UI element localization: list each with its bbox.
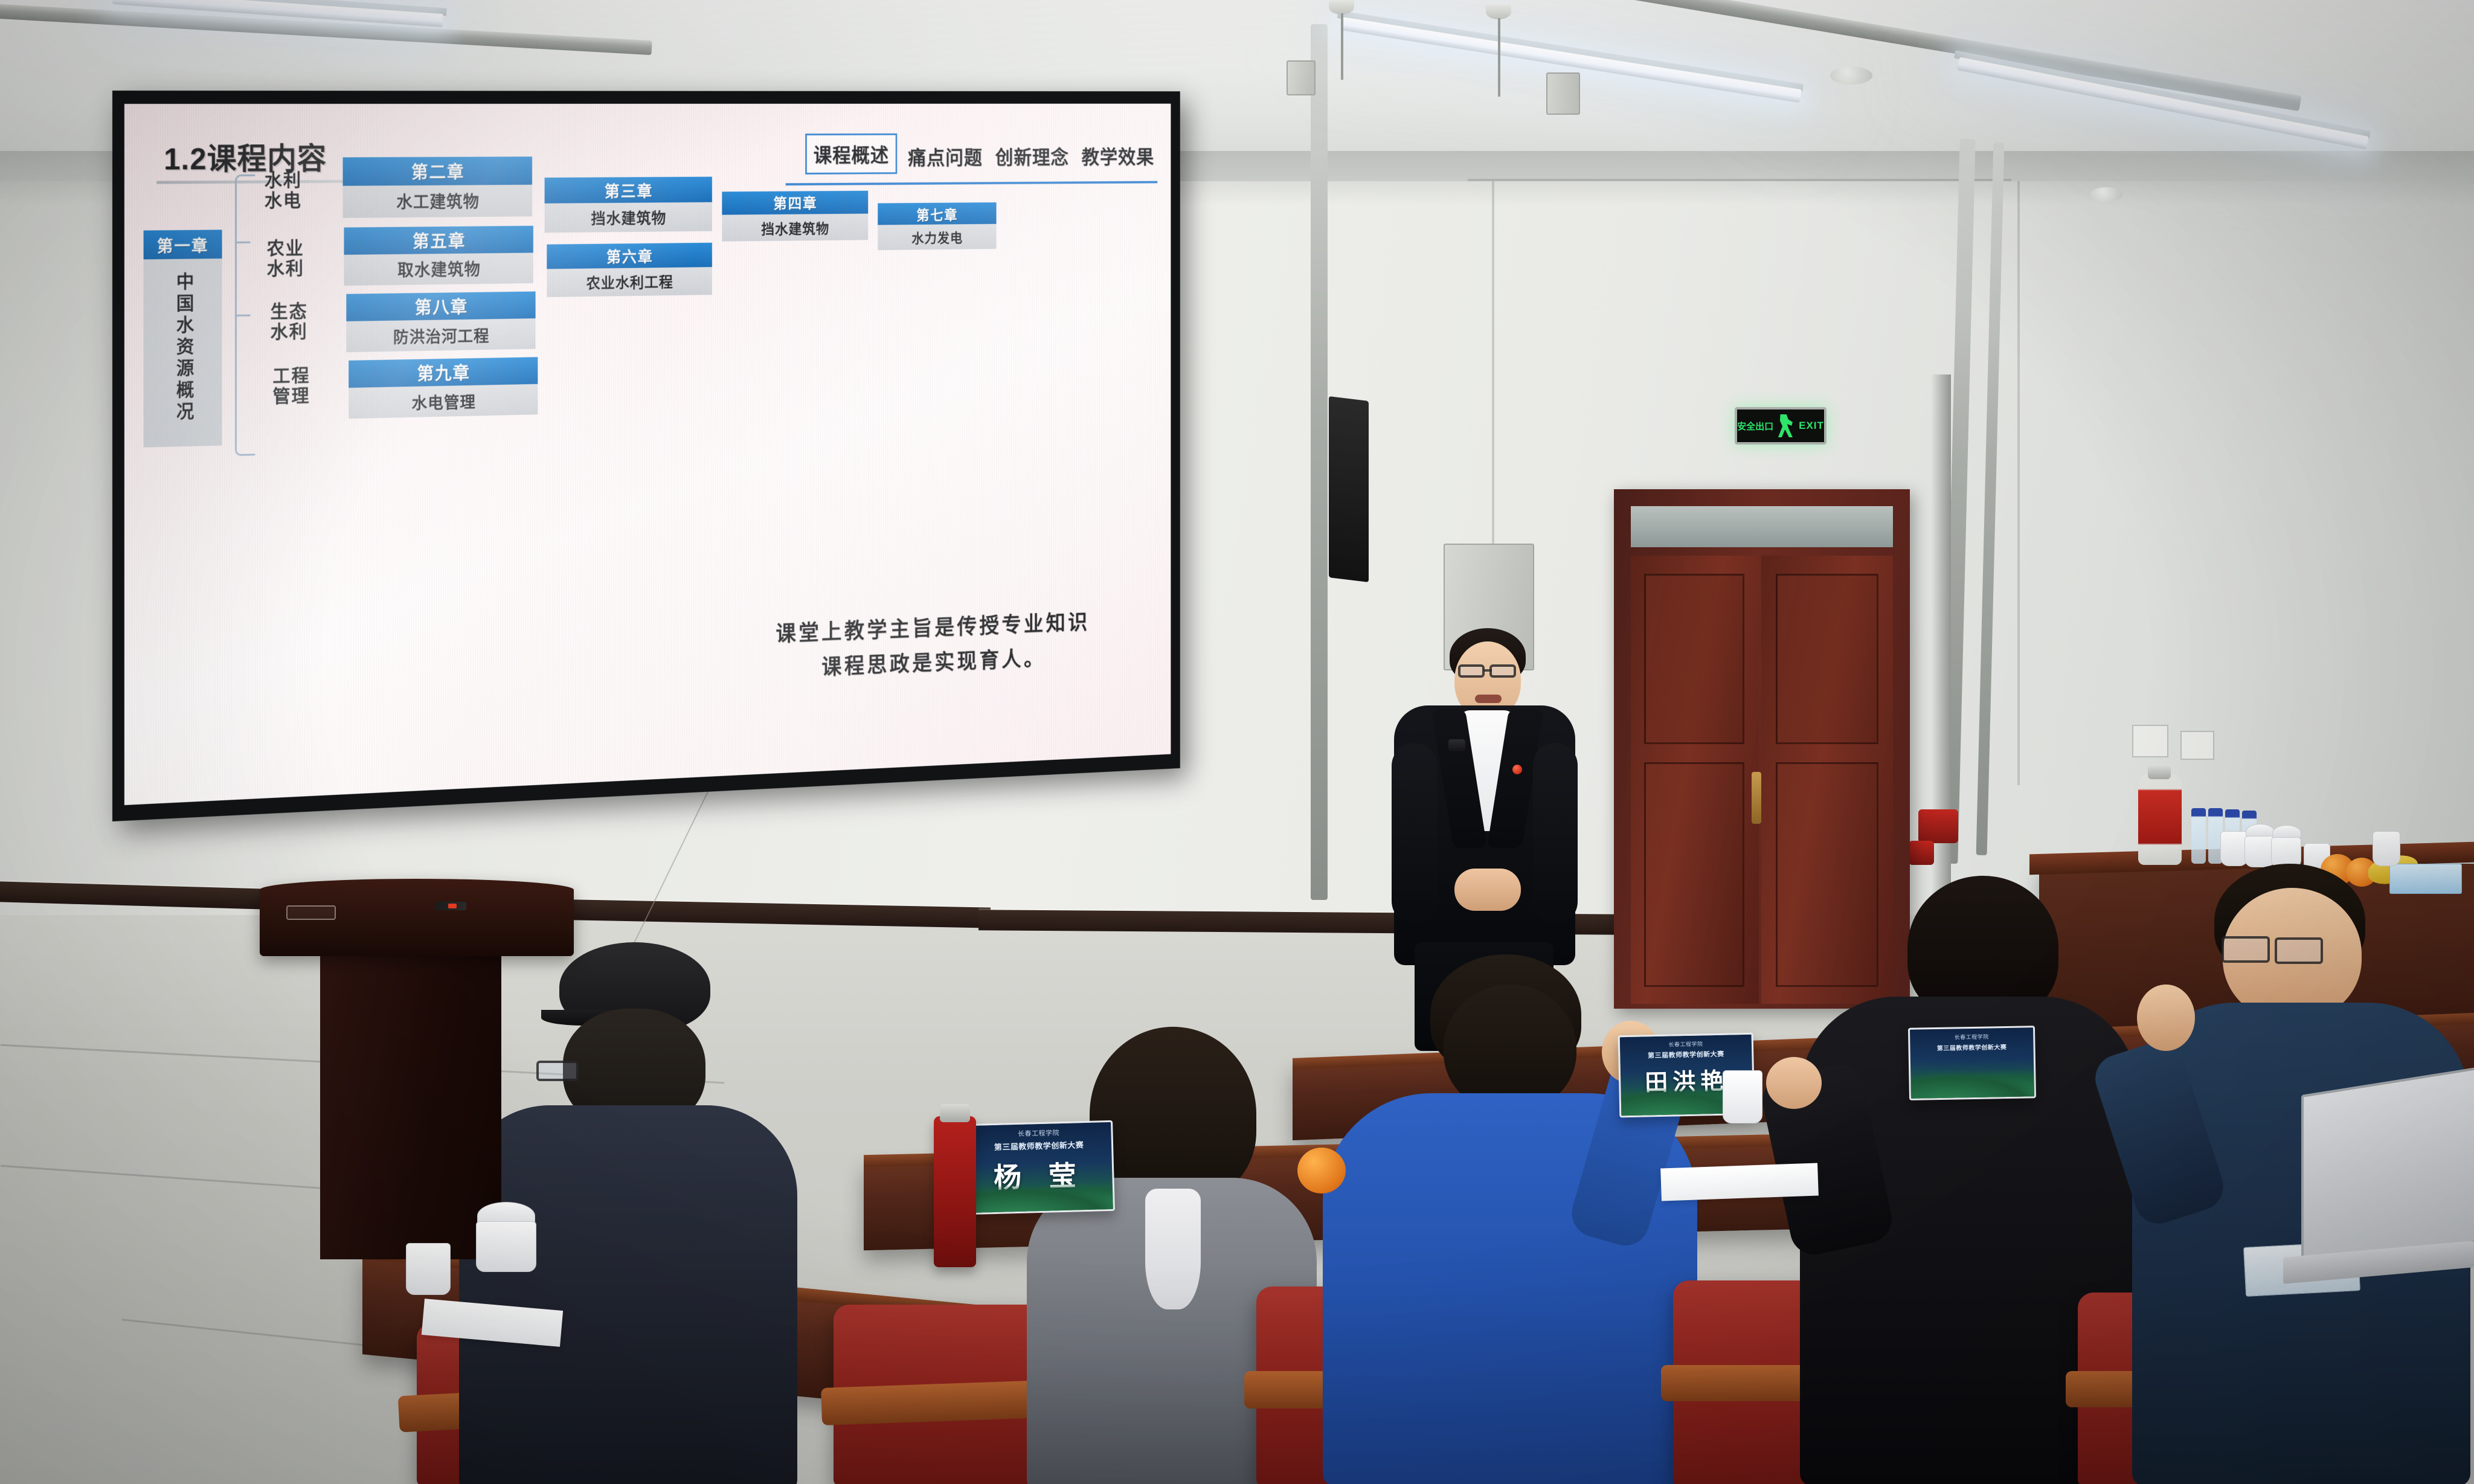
chapter-chip-2-body: 水工建筑物 (343, 185, 532, 218)
light-hanger-wire (1498, 18, 1500, 97)
smoke-detector-icon (2090, 187, 2122, 202)
door-panel (1644, 574, 1744, 744)
chapter-one-card: 第一章 中国水资源概况 (144, 230, 222, 447)
slide-section-nav: 课程概述 痛点问题 创新理念 教学效果 (805, 133, 1156, 175)
chapter-chip-8-body: 防洪治河工程 (346, 318, 535, 352)
nameplate-occluded: 长春工程学院 第三届教师教学创新大赛 (1908, 1026, 2036, 1100)
ceiling-conduit-pipe (1311, 24, 1328, 900)
wall-speaker (1329, 396, 1369, 582)
row-label-line2: 管理 (272, 386, 310, 406)
person-hand (2137, 985, 2195, 1051)
bracket-tick (235, 315, 250, 316)
nav-item-overview[interactable]: 课程概述 (805, 133, 897, 175)
laptop-screen[interactable] (2301, 1067, 2474, 1270)
presenter-mouth (1475, 695, 1502, 703)
lectern-indicator-panel (435, 902, 466, 910)
light-hanger-cup (1486, 5, 1511, 19)
presenter-arm-right (1533, 743, 1578, 924)
nameplate-org: 长春工程学院 (1955, 1033, 1989, 1041)
chapter-chip-3: 第三章 挡水建筑物 (545, 177, 712, 233)
glasses-icon (2222, 936, 2270, 963)
thermos-cap (2148, 766, 2171, 779)
chapter-chip-6: 第六章 农业水利工程 (547, 243, 712, 297)
white-paper-cup (1723, 1070, 1762, 1123)
paper-document (1660, 1163, 1819, 1201)
door-panel (1776, 574, 1878, 744)
nameplate-org: 长春工程学院 (1018, 1128, 1059, 1139)
lectern-power-led (448, 904, 457, 908)
wall-seam (1468, 179, 2011, 181)
slide-paragraph: 课堂上教学主旨是传授专业知识 课程思政是实现育人。 (723, 603, 1140, 689)
wall-switch-plate (2180, 731, 2214, 760)
nav-item-results[interactable]: 教学效果 (1079, 138, 1156, 173)
chapter-chip-5-body: 取水建筑物 (344, 252, 533, 286)
nav-item-pain-points[interactable]: 痛点问题 (906, 139, 985, 174)
nameplate-org: 长春工程学院 (1668, 1039, 1703, 1048)
lectern-top (260, 879, 574, 956)
chapter-chip-7-head: 第七章 (878, 202, 996, 225)
running-man-icon (1777, 414, 1795, 437)
door-panel (1644, 762, 1744, 987)
chapter-chip-7: 第七章 水力发电 (878, 202, 996, 250)
row-label-line2: 水电 (265, 191, 302, 211)
lectern-brand-plate (286, 905, 336, 920)
row-label-line2: 水利 (271, 322, 308, 342)
fire-hydrant-valve (1918, 809, 1958, 843)
person-hand (1766, 1057, 1822, 1109)
chapter-chip-9-body: 水电管理 (349, 384, 538, 419)
orange-fruit (1297, 1148, 1346, 1193)
smoke-detector-icon (1830, 66, 1872, 85)
row-label-line2: 水利 (267, 259, 304, 279)
glasses-bridge (1483, 669, 1492, 672)
person-hair (1090, 1027, 1256, 1202)
nav-underline (786, 181, 1158, 186)
wall-seam (2017, 181, 2020, 785)
wall-junction-box (1546, 72, 1580, 115)
thermos-cap (940, 1104, 970, 1122)
red-thermos-flask (934, 1116, 976, 1267)
chapter-chip-3-body: 挡水建筑物 (545, 202, 712, 233)
chapter-chip-6-body: 农业水利工程 (547, 267, 712, 297)
door-transom-window (1631, 506, 1893, 547)
row-label-gongcheng-guanli: 工程 管理 (272, 366, 310, 407)
chapter-chip-7-body: 水力发电 (878, 224, 996, 250)
lectern[interactable] (260, 879, 574, 1259)
glasses-icon (1489, 664, 1516, 678)
water-bottle (2191, 808, 2206, 864)
chapter-chip-3-head: 第三章 (545, 177, 712, 204)
nameplate-hill-graphic (1908, 1070, 2036, 1100)
person-head (1444, 985, 1576, 1111)
nameplate-event: 第三届教师教学创新大赛 (1937, 1042, 2007, 1052)
chapter-chip-9-head: 第九章 (349, 357, 538, 388)
chapter-chip-8: 第八章 防洪治河工程 (346, 291, 535, 352)
white-paper-cup (406, 1243, 451, 1295)
red-thermos-flask (2138, 774, 2182, 865)
row-label-line1: 生态 (271, 301, 308, 322)
lecture-hall-scene: 安全出口 EXIT 1.2课程内容 课程概述 痛点问题 创新理念 教学效果 第一… (0, 0, 2474, 1484)
glasses-icon (2275, 937, 2323, 964)
wall-junction-box (1287, 60, 1316, 95)
nav-item-innovation[interactable]: 创新理念 (993, 139, 1071, 174)
light-hanger-cup (1329, 0, 1354, 14)
nameplate-hill-graphic (964, 1182, 1115, 1215)
chapter-chip-6-head: 第六章 (547, 243, 712, 269)
slide-title: 1.2课程内容 (164, 135, 327, 178)
presenter-hands (1454, 869, 1521, 911)
light-hanger-wire (1341, 13, 1343, 80)
chapter-chip-8-head: 第八章 (346, 291, 535, 321)
chapter-chip-9: 第九章 水电管理 (349, 357, 538, 419)
exit-sign-en-label: EXIT (1799, 420, 1824, 432)
nameplate-event: 第三届教师教学创新大赛 (994, 1139, 1084, 1152)
door-handle[interactable] (1752, 772, 1761, 824)
exit-sign: 安全出口 EXIT (1735, 407, 1827, 445)
chapter-chip-2: 第二章 水工建筑物 (343, 156, 532, 218)
row-label-line1: 农业 (267, 239, 304, 259)
presentation-slide: 1.2课程内容 课程概述 痛点问题 创新理念 教学效果 第一章 中国水资源概况 (124, 104, 1171, 805)
presenter-arm-left (1392, 743, 1438, 924)
chapter-chip-4-body: 挡水建筑物 (722, 214, 868, 242)
person-collar (1145, 1189, 1201, 1309)
nameplate-yang-ying: 长春工程学院 第三届教师教学创新大赛 杨 莹 (964, 1120, 1115, 1215)
chapter-one-head: 第一章 (144, 230, 222, 259)
row-label-shuili-shuidian: 水利 水电 (265, 170, 302, 211)
chapter-chip-5: 第五章 取水建筑物 (344, 226, 533, 286)
chapter-chip-4-head: 第四章 (722, 191, 868, 215)
chapter-chip-2-head: 第二章 (343, 156, 532, 185)
lectern-column (320, 950, 501, 1259)
projection-screen: 1.2课程内容 课程概述 痛点问题 创新理念 教学效果 第一章 中国水资源概况 (112, 91, 1180, 821)
lapel-microphone-icon (1448, 739, 1465, 751)
lapel-pin-icon (1512, 765, 1522, 774)
row-label-line1: 水利 (265, 170, 302, 191)
wall-switch-plate (2132, 725, 2168, 757)
row-label-nongye-shuili: 农业 水利 (267, 239, 304, 279)
exit-sign-cn-label: 安全出口 (1737, 420, 1773, 432)
nameplate-event: 第三届教师教学创新大赛 (1648, 1049, 1724, 1061)
glasses-icon (1458, 664, 1485, 678)
audience-person-blue-sweater (1323, 954, 1697, 1484)
chapter-one-vertical-text: 中国水资源概况 (170, 272, 196, 424)
row-label-line1: 工程 (272, 366, 310, 387)
chapter-chip-5-head: 第五章 (344, 226, 533, 255)
white-teacup (476, 1221, 536, 1272)
fire-hydrant-valve (1909, 841, 1934, 865)
white-teacup (2244, 836, 2275, 867)
row-label-shengtai-shuili: 生态 水利 (271, 301, 308, 342)
chapter-one-body: 中国水资源概况 (144, 259, 222, 448)
white-cup (2373, 831, 2400, 866)
chapter-chip-4: 第四章 挡水建筑物 (722, 191, 868, 242)
bracket-tick (235, 242, 250, 243)
